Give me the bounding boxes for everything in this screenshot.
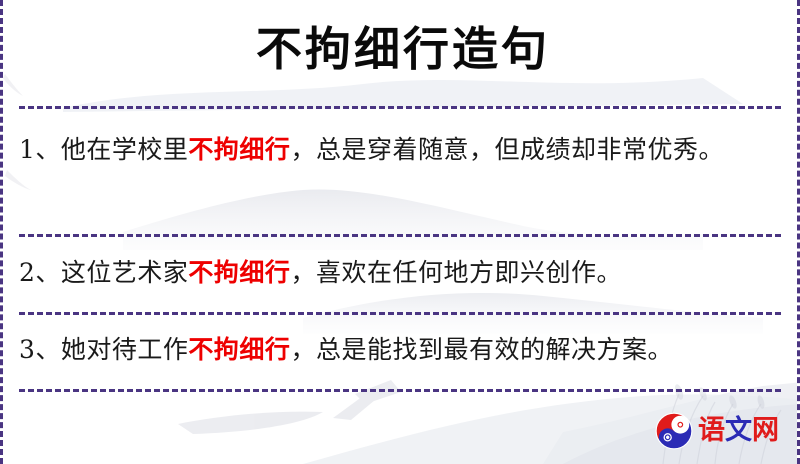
divider-rule-top — [19, 106, 781, 109]
sentence-idiom-3: 不拘细行 — [188, 335, 290, 364]
site-logo[interactable]: 语文网 — [655, 412, 779, 450]
sentence-after-3: ，总是能找到最有效的解决方案。 — [290, 335, 673, 364]
sentence-item-1: 1、他在学校里不拘细行，总是穿着随意，但成绩却非常优秀。 — [19, 126, 781, 174]
page-title: 不拘细行造句 — [256, 18, 550, 80]
sentence-index-3: 3、 — [19, 335, 61, 364]
sentence-before-2: 这位艺术家 — [61, 258, 189, 287]
sentence-index-2: 2、 — [19, 258, 61, 287]
page-title-wrapper: 不拘细行造句 — [3, 18, 800, 80]
divider-rule-1 — [19, 234, 781, 237]
logo-char-2: 文 — [725, 415, 752, 446]
divider-rule-2 — [19, 312, 781, 315]
sentence-index-1: 1、 — [19, 135, 61, 164]
sentence-before-3: 她对待工作 — [61, 335, 189, 364]
sentence-item-3: 3、她对待工作不拘细行，总是能找到最有效的解决方案。 — [19, 326, 781, 374]
logo-char-1: 语 — [698, 415, 725, 446]
sentence-idiom-2: 不拘细行 — [188, 258, 290, 287]
site-logo-text: 语文网 — [698, 416, 779, 446]
worksheet-page: 不拘细行造句 1、他在学校里不拘细行，总是穿着随意，但成绩却非常优秀。 2、这位… — [0, 0, 800, 464]
sentence-before-1: 他在学校里 — [61, 135, 189, 164]
sentence-after-1: ，总是穿着随意，但成绩却非常优秀。 — [290, 135, 724, 164]
sentence-item-2: 2、这位艺术家不拘细行，喜欢在任何地方即兴创作。 — [19, 249, 781, 297]
logo-char-3: 网 — [752, 415, 779, 446]
sentence-after-2: ，喜欢在任何地方即兴创作。 — [290, 258, 622, 287]
yinyang-circle-icon — [655, 412, 693, 450]
sentence-idiom-1: 不拘细行 — [188, 135, 290, 164]
divider-rule-bottom — [19, 389, 781, 392]
